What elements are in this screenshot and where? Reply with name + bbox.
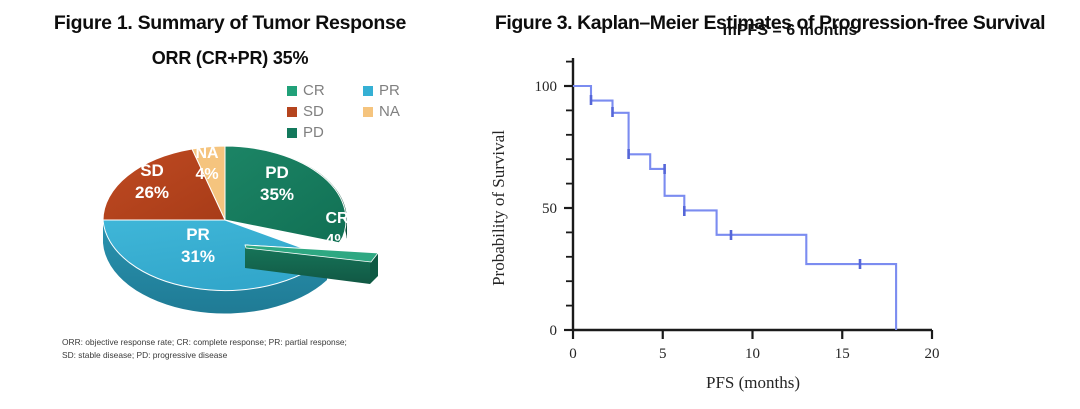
figure-1-panel: Figure 1. Summary of Tumor Response ORR … (0, 0, 460, 404)
pie-label-pd-pct: 35% (260, 185, 294, 204)
x-tick-label-10: 10 (745, 346, 760, 362)
footnote-line-1: ORR: objective response rate; CR: comple… (62, 337, 308, 347)
y-tick-label-50: 50 (542, 201, 557, 217)
x-tick-label-0: 0 (569, 346, 577, 362)
legend-swatch-cr-icon (287, 86, 297, 96)
y-axis-title: Probability of Survival (489, 130, 508, 286)
figures-page: Figure 1. Summary of Tumor Response ORR … (0, 0, 1080, 404)
mpfs-annotation: mPFS = 6 months (660, 22, 920, 40)
pie-label-pr-pct: 31% (181, 247, 215, 266)
kaplan-meier-chart: 100 50 0 0 5 10 15 20 PFS (months) (460, 40, 1080, 404)
tumor-response-pie-chart: PD 35% CR 4% PR 31% SD 26% NA 4% (40, 108, 440, 323)
km-svg: 100 50 0 0 5 10 15 20 PFS (months) (460, 40, 1080, 404)
km-censor-marks (591, 95, 860, 269)
x-tick-label-15: 15 (835, 346, 850, 362)
pie-label-sd-pct: 26% (135, 183, 169, 202)
y-tick-label-0: 0 (550, 323, 558, 339)
y-axis-ticks (564, 62, 573, 330)
x-axis-ticks (573, 330, 932, 339)
pie-label-cr-name: CR (325, 210, 349, 227)
legend-item-pr: PR (363, 80, 425, 101)
figure-1-footnote: ORR: objective response rate; CR: comple… (62, 336, 362, 362)
legend-label-pr: PR (379, 83, 400, 98)
legend-swatch-pr-icon (363, 86, 373, 96)
legend-item-cr: CR (287, 80, 349, 101)
pie-label-na-name: NA (195, 145, 219, 162)
y-tick-label-100: 100 (535, 79, 558, 95)
legend-label-cr: CR (303, 83, 325, 98)
x-tick-label-5: 5 (659, 346, 667, 362)
x-tick-label-20: 20 (925, 346, 940, 362)
figure-1-title: Figure 1. Summary of Tumor Response (0, 12, 460, 35)
pie-label-pd-name: PD (265, 163, 289, 182)
km-step-line (573, 86, 896, 330)
pie-label-pr-name: PR (186, 225, 210, 244)
pie-label-na-pct: 4% (195, 166, 218, 183)
orr-subtitle: ORR (CR+PR) 35% (0, 48, 460, 69)
pie-svg: PD 35% CR 4% PR 31% SD 26% NA 4% (40, 108, 440, 323)
pie-label-cr-pct: 4% (325, 232, 348, 249)
pie-label-sd-name: SD (140, 161, 164, 180)
figure-3-panel: Figure 3. Kaplan–Meier Estimates of Prog… (460, 0, 1080, 404)
x-axis-title: PFS (months) (706, 373, 800, 392)
